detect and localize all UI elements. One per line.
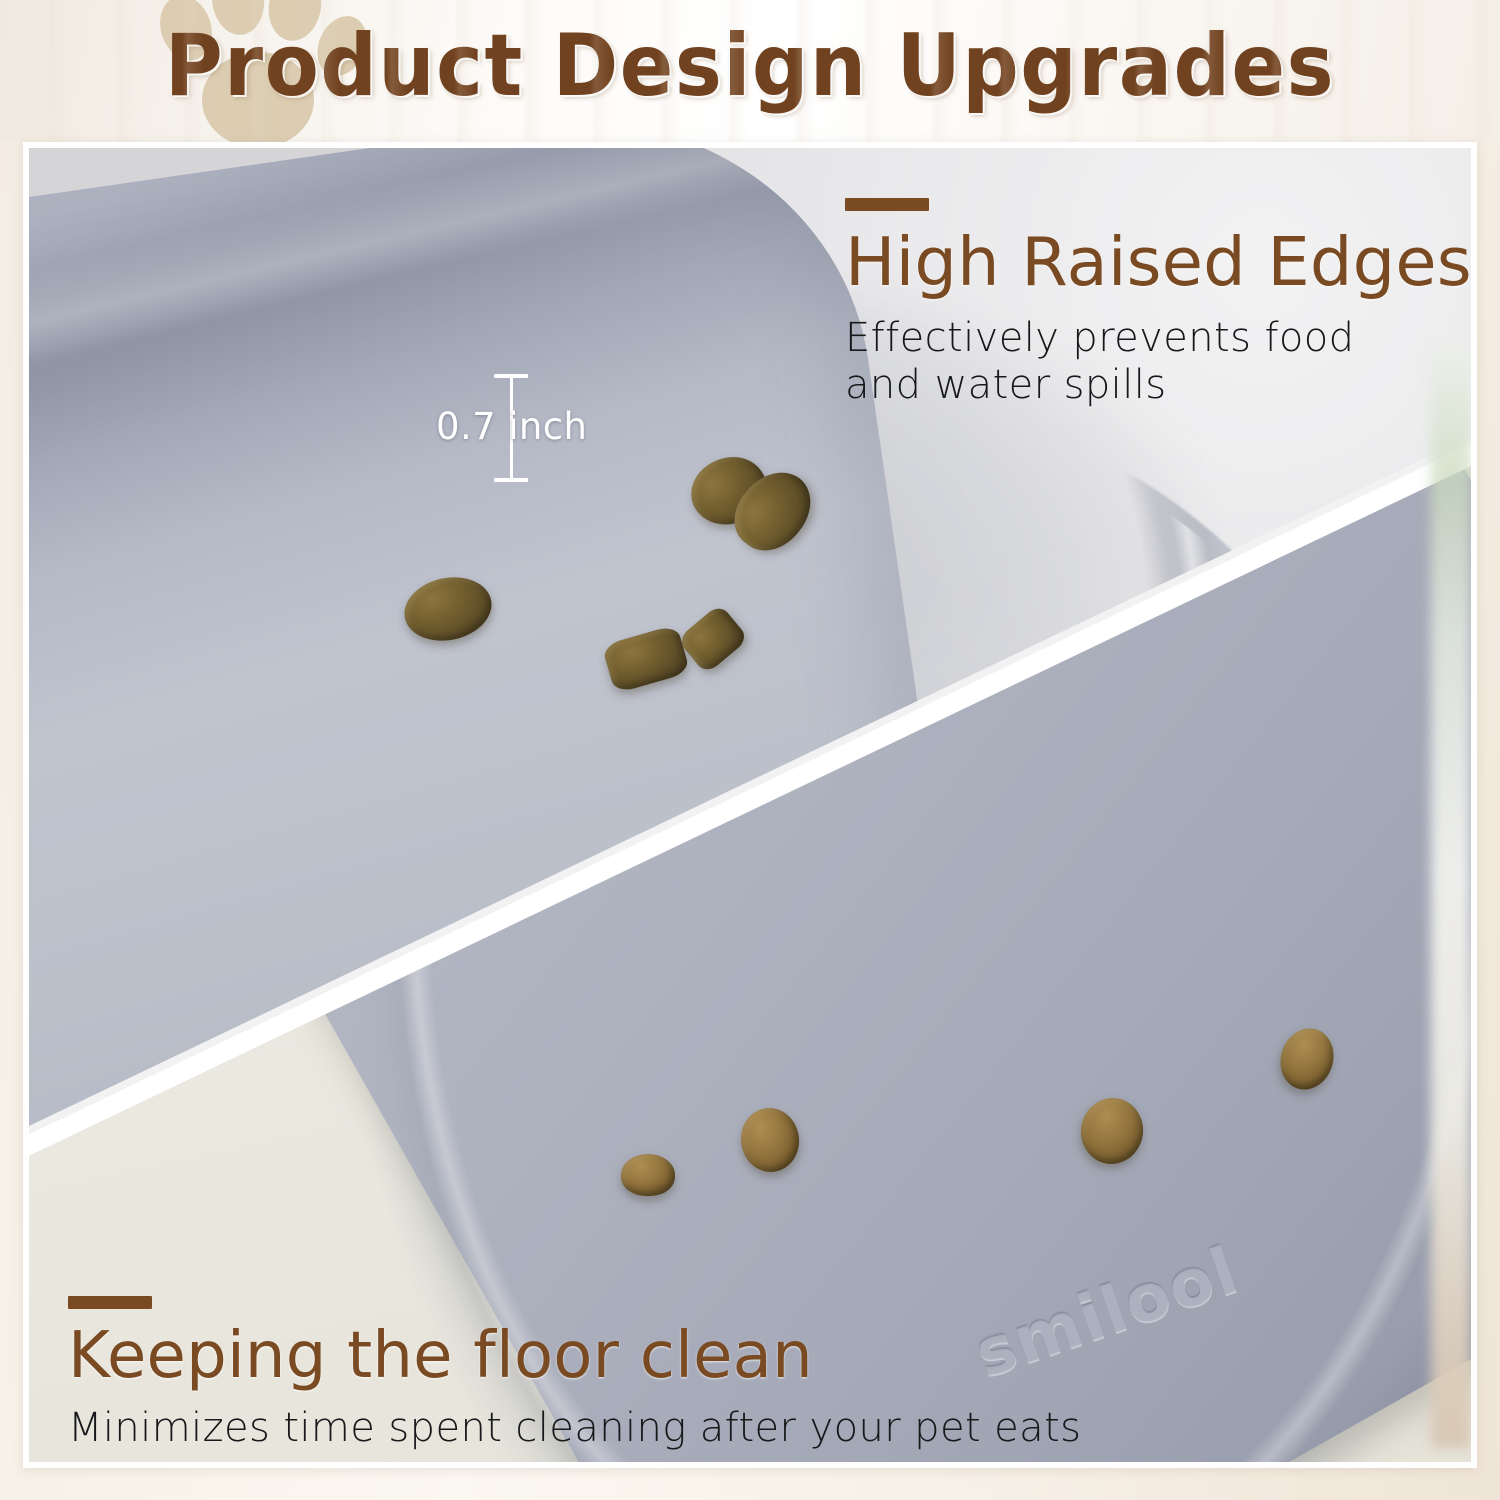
dimension-label: 0.7 inch	[436, 405, 626, 448]
callout-keeping-floor-clean: Keeping the floor clean Minimizes time s…	[68, 1296, 1081, 1451]
callout-high-raised-edges: High Raised Edges Effectively prevents f…	[845, 198, 1472, 409]
callout-accent-rule	[68, 1296, 152, 1309]
blurred-plant-background	[1431, 348, 1471, 1448]
dimension-annotation: 0.7 inch	[461, 370, 631, 490]
dimension-cap-bottom	[494, 478, 528, 482]
header-band: Product Design Upgrades	[0, 0, 1500, 142]
dimension-cap-top	[494, 374, 528, 378]
callout-subtitle: Minimizes time spent cleaning after your…	[68, 1405, 1081, 1451]
callout-subtitle-line: Effectively prevents food	[845, 315, 1465, 362]
callout-subtitle: Effectively prevents food and water spil…	[845, 315, 1465, 409]
page-title: Product Design Upgrades	[0, 16, 1500, 116]
callout-title: High Raised Edges	[845, 223, 1472, 301]
product-feature-poster: Product Design Upgrades	[0, 0, 1500, 1500]
callout-accent-rule	[845, 198, 929, 211]
callout-title: Keeping the floor clean	[68, 1319, 1081, 1393]
paw-print-icon	[150, 0, 370, 142]
kibble-piece	[621, 1154, 675, 1196]
callout-subtitle-line: and water spills	[845, 362, 1465, 409]
